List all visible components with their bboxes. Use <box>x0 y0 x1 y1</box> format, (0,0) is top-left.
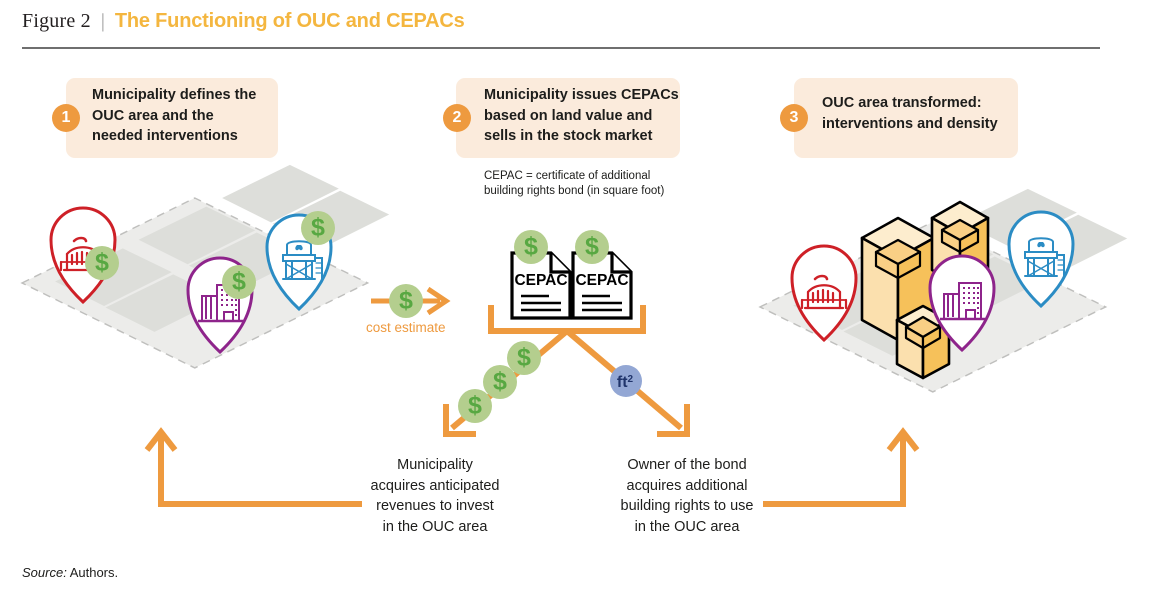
sqft-badge: ft2 <box>610 365 642 397</box>
figure-header: Figure 2 | The Functioning of OUC and CE… <box>22 10 1100 33</box>
map-pin-water-tower-after <box>1009 212 1073 306</box>
coin-badge-cepac-1 <box>514 230 548 264</box>
cost-estimate-arrow <box>371 289 446 313</box>
coin-badge-pin-water-tower <box>301 211 335 245</box>
coin-badge-cepac-2 <box>575 230 609 264</box>
svg-text:ft2: ft2 <box>617 374 634 391</box>
coin-badge-pin-bridge <box>85 246 119 280</box>
map-pin-bridge-after <box>792 246 856 340</box>
feedback-arrow-left <box>147 432 362 504</box>
map-pin-water-tower <box>267 215 331 309</box>
step-text-1: Municipality defines the OUC area and th… <box>92 85 282 147</box>
step-badge-2: 2 <box>443 104 471 132</box>
step-badge-3: 3 <box>780 104 808 132</box>
caption-right: Owner of the bond acquires additional bu… <box>607 455 767 537</box>
map-pin-buildings <box>188 258 252 352</box>
cepac-document-2 <box>573 253 631 318</box>
iso-building-tower <box>932 202 988 286</box>
cepac-definition-note: CEPAC = certificate of additional buildi… <box>484 169 699 200</box>
feedback-arrow-right <box>763 432 917 504</box>
panel-1-map <box>22 165 389 368</box>
cepac-document-1-label: CEPAC <box>514 272 567 289</box>
coin-badge-branch-1 <box>507 341 541 375</box>
page-title: The Functioning of OUC and CEPACs <box>115 10 465 33</box>
source-note: Source: Authors. <box>22 565 118 580</box>
revenue-branch-arrow <box>446 331 567 434</box>
iso-building-small <box>897 306 949 378</box>
panel-3-map <box>760 189 1127 392</box>
iso-building-tall <box>862 218 934 340</box>
source-value: Authors. <box>67 565 118 580</box>
coin-badge-branch-3 <box>458 389 492 423</box>
step-badge-1: 1 <box>52 104 80 132</box>
header-separator: | <box>101 10 105 33</box>
coin-badge-pin-buildings <box>222 265 256 299</box>
map-pin-buildings-after <box>930 256 994 350</box>
step-text-3: OUC area transformed: interventions and … <box>822 93 1022 134</box>
rights-branch-arrow <box>567 331 687 434</box>
coin-badge-branch-2 <box>483 365 517 399</box>
step-text-2: Municipality issues CEPACs based on land… <box>484 85 689 147</box>
map-pin-bridge <box>51 208 115 302</box>
header-divider <box>22 47 1100 49</box>
figure-number: Figure 2 <box>22 10 91 33</box>
source-label: Source: <box>22 565 67 580</box>
cost-estimate-label: cost estimate <box>366 320 446 335</box>
cepac-document-1 <box>512 253 570 318</box>
coin-badge-cost-estimate <box>389 284 423 318</box>
cepac-document-2-label: CEPAC <box>575 272 628 289</box>
cepac-split-connector <box>491 305 643 332</box>
caption-left: Municipality acquires anticipated revenu… <box>355 455 515 537</box>
